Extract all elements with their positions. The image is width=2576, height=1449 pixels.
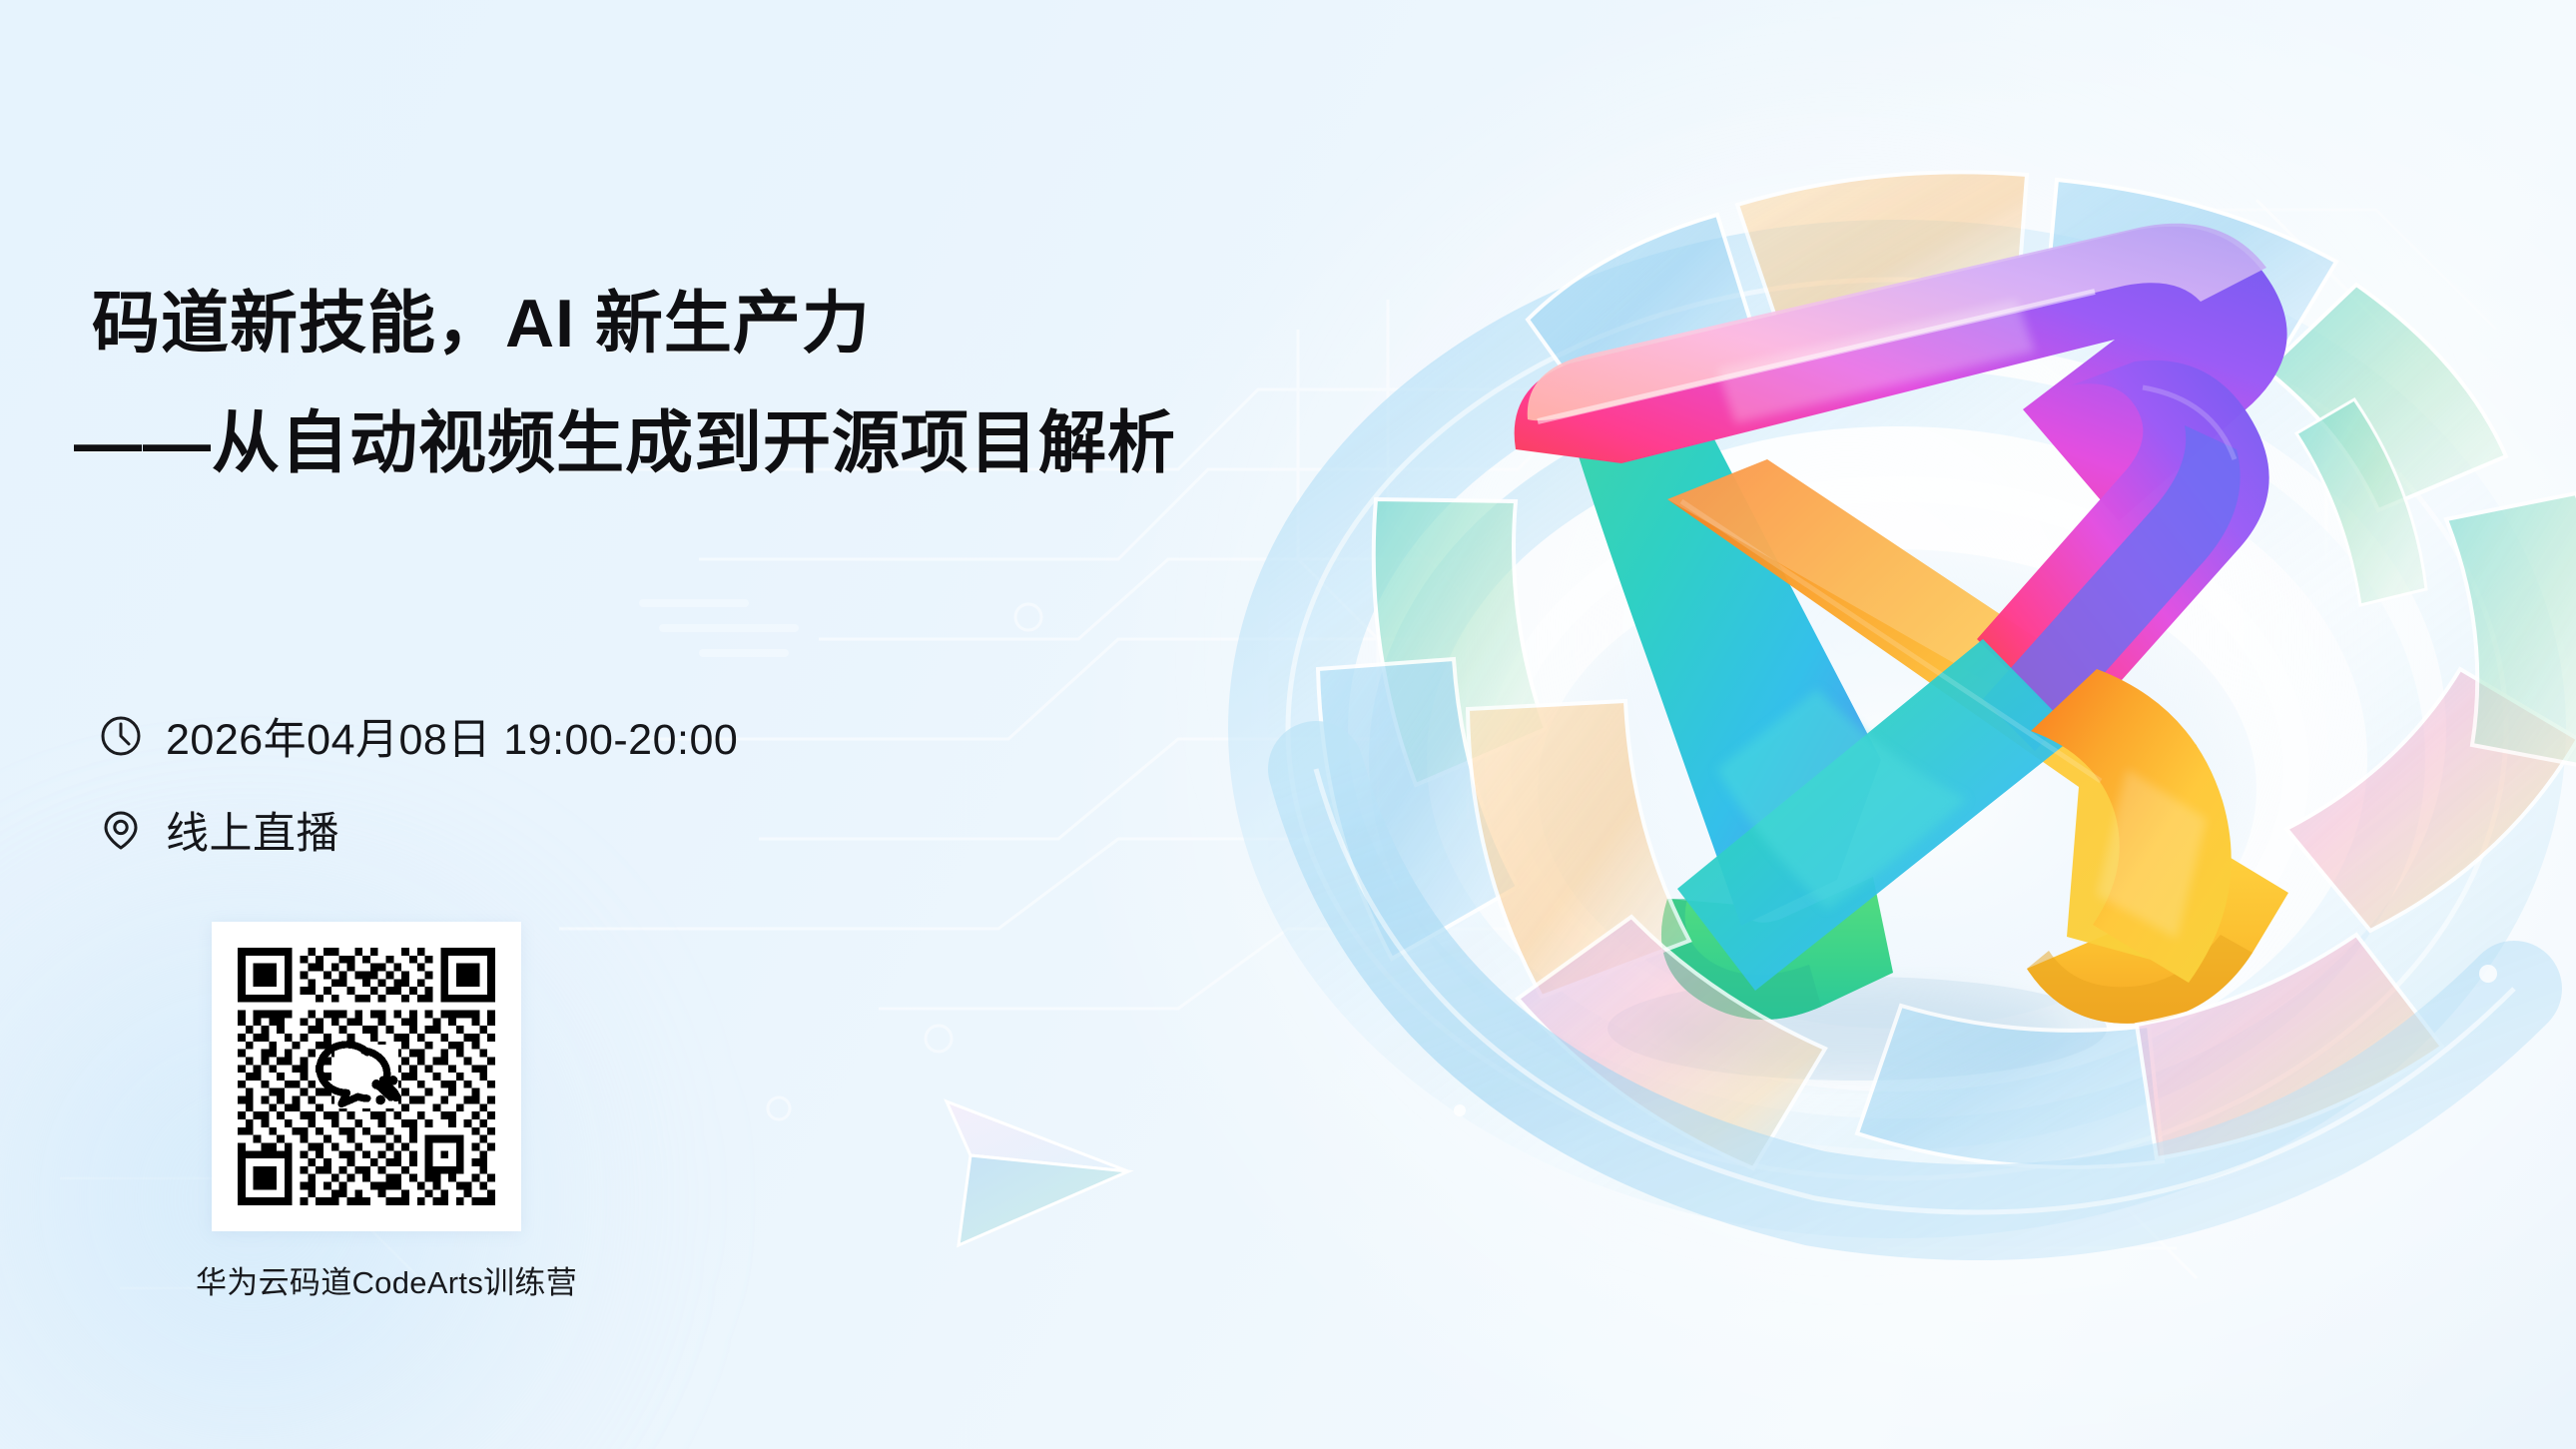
title-line-1: 码道新技能，AI 新生产力 [92, 286, 1176, 362]
location-pin-icon [98, 807, 144, 853]
qr-block: 华为云码道CodeArts训练营 [212, 922, 521, 1302]
event-location-row: 线上直播 [98, 799, 738, 861]
event-location-text: 线上直播 [166, 799, 339, 861]
event-meta: 2026年04月08日 19:00-20:00 线上直播 [98, 705, 738, 893]
clock-icon [98, 713, 144, 759]
qr-caption: 华为云码道CodeArts训练营 [196, 1257, 505, 1302]
promo-banner: 码道新技能，AI 新生产力 ——从自动视频生成到开源项目解析 2026年04月0… [0, 0, 2576, 1449]
event-datetime-row: 2026年04月08日 19:00-20:00 [98, 705, 738, 767]
event-datetime-text: 2026年04月08日 19:00-20:00 [166, 705, 738, 767]
qr-code[interactable] [212, 922, 521, 1231]
title-line-2: ——从自动视频生成到开源项目解析 [74, 405, 1176, 481]
page-title: 码道新技能，AI 新生产力 ——从自动视频生成到开源项目解析 [92, 286, 1176, 481]
content-column: 码道新技能，AI 新生产力 ——从自动视频生成到开源项目解析 2026年04月0… [0, 0, 1498, 1449]
